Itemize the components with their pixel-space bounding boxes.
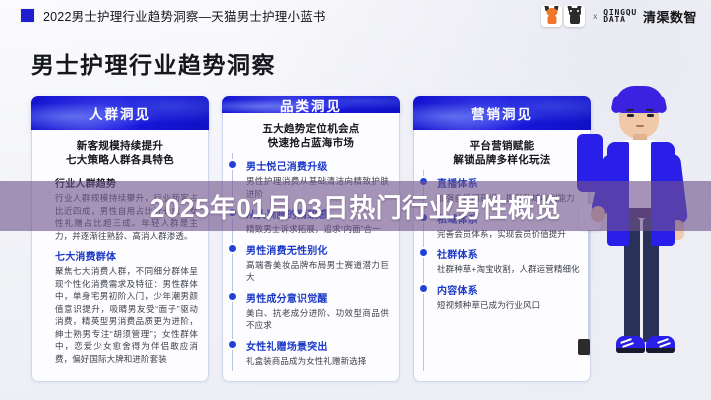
qingqu-logo-line2: DATA — [603, 16, 637, 23]
list-item-text: 短视频种草已成为行业风口 — [437, 299, 580, 312]
list-item-title: 男性消费无性别化 — [246, 242, 389, 257]
insight-column-crowd: 人群洞见 新客规模持续提升 七大策略人群各具特色 行业人群趋势 行业人群规模持续… — [31, 96, 209, 382]
brand-name-cn: 清渠数智 — [643, 7, 697, 26]
page-title: 男士护理行业趋势洞察 — [31, 46, 276, 80]
list-item-title: 七大消费群体 — [55, 248, 198, 263]
list-item-text: 美白、抗老成分进阶、功效型商品供不应求 — [246, 307, 389, 332]
list-item-text: 聚焦七大消费人群，不同细分群体呈现个性化消费需求及特征：男性群体中，单身宅男初阶… — [55, 265, 198, 365]
column-subtitle-line2: 七大策略人群各具特色 — [42, 153, 198, 167]
blue-square-icon — [21, 9, 34, 22]
column-header-label: 营销洞见 — [471, 103, 533, 123]
column-header-label: 人群洞见 — [89, 103, 151, 123]
list-item: 男性消费无性别化 高端香美妆品牌布局男士赛道潜力巨大 — [246, 242, 389, 284]
column-body-category: 五大趋势定位机会点 快速抢占蓝海市场 男士悦己消费升级 男性护理消费从基础清洁向… — [222, 113, 400, 382]
column-header-crowd: 人群洞见 — [31, 96, 209, 130]
column-subtitle-line2: 解锁品牌多样化玩法 — [424, 153, 580, 167]
insight-column-category: 品类洞见 五大趋势定位机会点 快速抢占蓝海市场 男士悦己消费升级 男性护理消费从… — [222, 96, 400, 382]
orange-cat-mascot-icon — [541, 5, 562, 27]
brand-lockup: x QINGQU DATA 清渠数智 — [541, 4, 697, 28]
timeline-dot-icon — [420, 285, 427, 292]
list-item-title: 女性礼赠场景突出 — [246, 338, 389, 353]
column-header-label: 品类洞见 — [280, 96, 342, 113]
column-subtitle-line1: 新客规模持续提升 — [42, 139, 198, 153]
column-subtitle-line2: 快速抢占蓝海市场 — [233, 136, 389, 150]
list-item: 女性礼赠场景突出 礼盒装商品成为女性礼赠新选择 — [246, 338, 389, 368]
list-item-text: 高端香美妆品牌布局男士赛道潜力巨大 — [246, 259, 389, 284]
column-subtitle: 五大趋势定位机会点 快速抢占蓝海市场 — [233, 122, 389, 150]
column-subtitle-line1: 五大趋势定位机会点 — [233, 122, 389, 136]
column-body-crowd: 新客规模持续提升 七大策略人群各具特色 行业人群趋势 行业人群规模持续攀升，行业… — [31, 130, 209, 382]
insight-column-marketing: 营销洞见 平台营销赋能 解锁品牌多样化玩法 直播体系 加强自播间建设，提升私域收… — [413, 96, 591, 382]
timeline-dot-icon — [229, 161, 236, 168]
dark-cat-mascot-icon — [564, 5, 585, 27]
qingqu-data-logo: QINGQU DATA — [603, 9, 637, 23]
list-item: 男性成分意识觉醒 美白、抗老成分进阶、功效型商品供不应求 — [246, 290, 389, 332]
column-subtitle: 平台营销赋能 解锁品牌多样化玩法 — [424, 139, 580, 167]
list-item-title: 内容体系 — [437, 282, 580, 297]
column-subtitle: 新客规模持续提升 七大策略人群各具特色 — [42, 139, 198, 167]
column-body-marketing: 平台营销赋能 解锁品牌多样化玩法 直播体系 加强自播间建设，提升私域收割能力 私… — [413, 130, 591, 382]
poster-source-title: 2022男士护理行业趋势洞察—天猫男士护理小蓝书 — [43, 6, 326, 25]
list-item-title: 男性成分意识觉醒 — [246, 290, 389, 305]
list-item: 内容体系 短视频种草已成为行业风口 — [437, 282, 580, 312]
column-header-category: 品类洞见 — [222, 96, 400, 113]
column-header-marketing: 营销洞见 — [413, 96, 591, 130]
list-item-title: 男士悦己消费升级 — [246, 158, 389, 173]
insight-columns: 人群洞见 新客规模持续提升 七大策略人群各具特色 行业人群趋势 行业人群规模持续… — [31, 96, 591, 382]
list-item-text: 礼盒装商品成为女性礼赠新选择 — [246, 355, 389, 368]
list-item-title: 社群体系 — [437, 246, 580, 261]
list-item: 社群体系 社群种草+淘宝收割，人群运营精细化 — [437, 246, 580, 276]
timeline-dot-icon — [229, 245, 236, 252]
brand-separator: x — [593, 12, 597, 21]
list-item: 七大消费群体 聚焦七大消费人群，不同细分群体呈现个性化消费需求及特征：男性群体中… — [55, 248, 198, 365]
overlay-headline: 2025年01月03日热门行业男性概览 — [0, 183, 711, 229]
timeline-dot-icon — [420, 249, 427, 256]
column-subtitle-line1: 平台营销赋能 — [424, 139, 580, 153]
timeline-dot-icon — [229, 293, 236, 300]
list-item-text: 社群种草+淘宝收割，人群运营精细化 — [437, 263, 580, 276]
timeline-dot-icon — [229, 341, 236, 348]
poster-canvas: 2022男士护理行业趋势洞察—天猫男士护理小蓝书 x QINGQU DATA 清… — [0, 0, 711, 400]
mascot-pair — [541, 4, 587, 28]
